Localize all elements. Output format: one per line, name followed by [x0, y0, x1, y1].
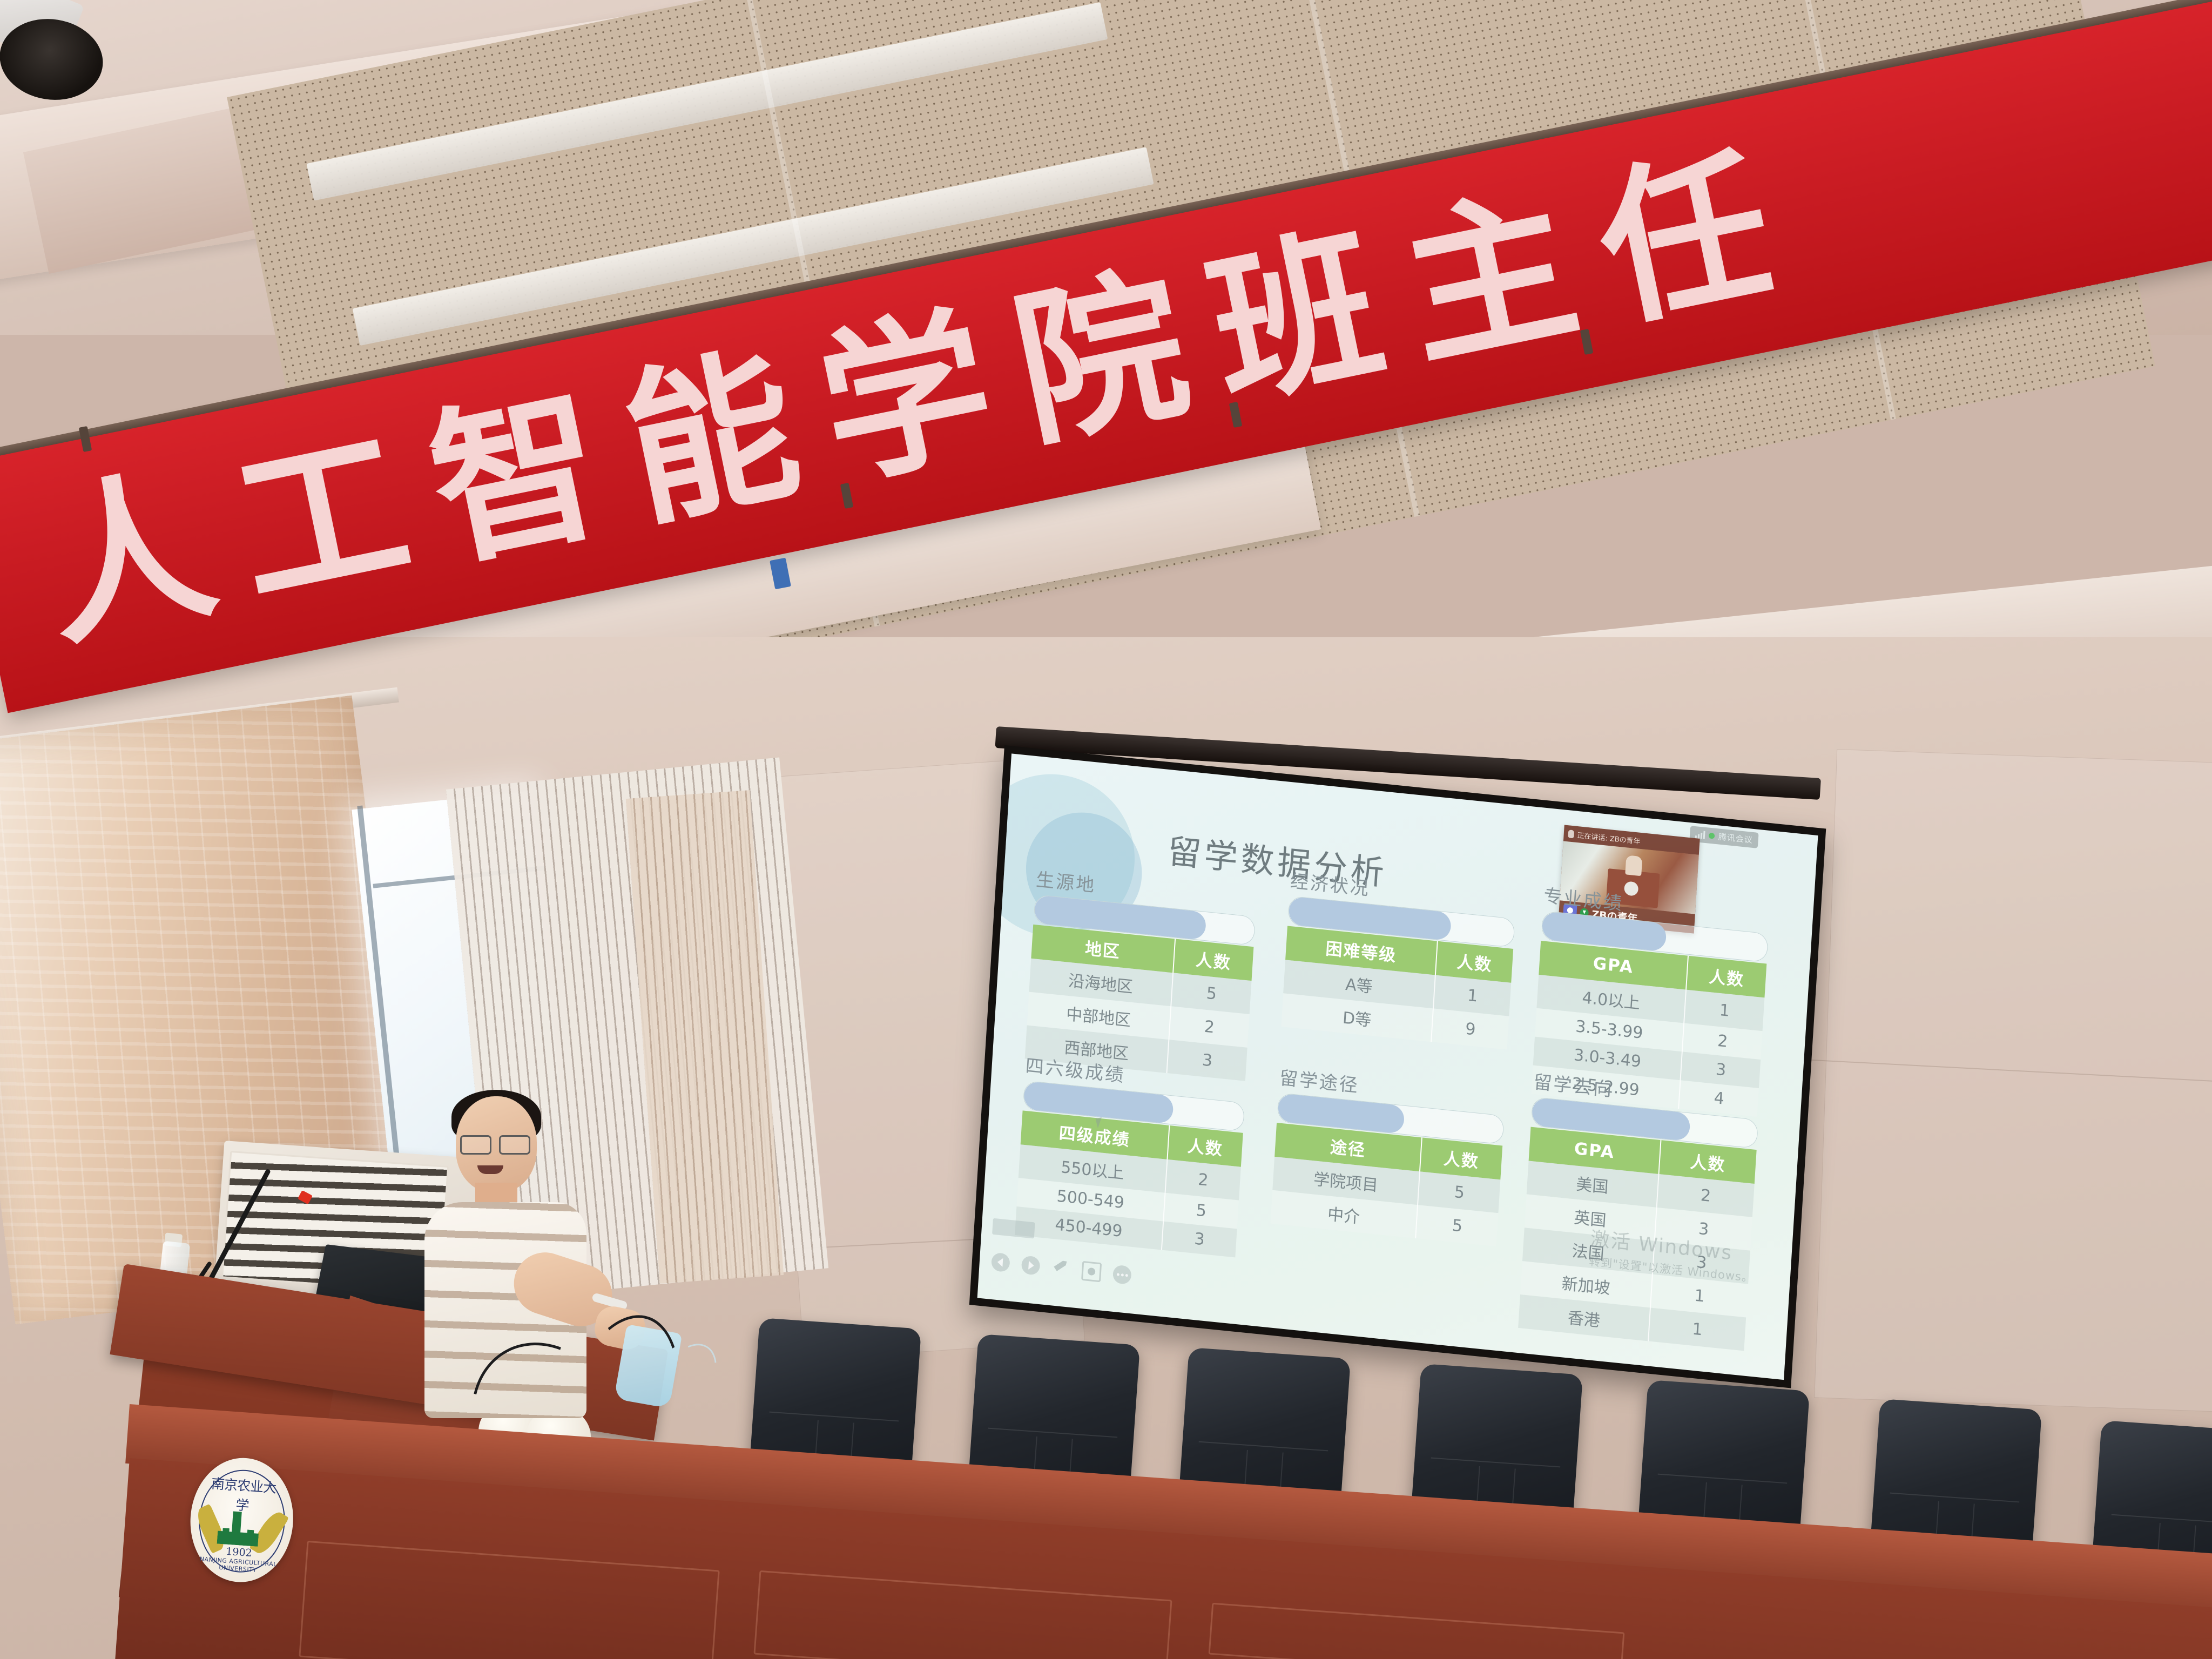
tencent-meeting-label: 腾讯会议 [1718, 831, 1753, 845]
next-slide-icon[interactable] [1021, 1255, 1041, 1275]
data-block-liuxuequxiang: 留学去向 GPA 人数 美国2 英国3 法国3 新加坡1 香港1 [1518, 1067, 1761, 1351]
recording-dot-icon [1709, 833, 1715, 839]
presentation-slide: 留学数据分析 腾讯会议 正在讲话: ZBの青年 [977, 753, 1818, 1380]
projection-screen: 留学数据分析 腾讯会议 正在讲话: ZBの青年 [969, 745, 1826, 1388]
data-block-siliujichengji: 四六级成绩 四级成绩 人数 550以上2 500-5495 450-4993 [1015, 1051, 1247, 1258]
data-block-jingjizhuangkuang: 经济状况 困难等级 人数 A等1 D等9 [1281, 866, 1517, 1050]
pen-icon[interactable] [1051, 1258, 1070, 1278]
microphone-icon [1568, 829, 1574, 838]
stage-spotlight-icon [0, 0, 119, 95]
university-emblem: 南京农业大学 1902 NANJING AGRICULTURAL UNIVERS… [186, 1454, 303, 1596]
data-table: 途径 人数 学院项目5 中介5 [1270, 1123, 1502, 1246]
tencent-meeting-badge: 腾讯会议 [1689, 826, 1758, 848]
pointer-icon[interactable] [1081, 1261, 1102, 1283]
eyeglasses-icon [460, 1135, 530, 1152]
more-options-icon[interactable] [1112, 1265, 1132, 1285]
data-table: 四级成绩 人数 550以上2 500-5495 450-4993 [1015, 1110, 1243, 1257]
lecture-hall-photo: 人工智能学院班主任 留学数据分析 腾讯会议 正在讲话: ZBの青 [0, 0, 2212, 1659]
wall-panel [1814, 749, 2212, 1412]
cell-value: 9 [1431, 1008, 1509, 1049]
data-block-shengyuandi: 生源地 地区 人数 沿海地区5 中部地区2 西部地区3 [1025, 865, 1258, 1081]
prev-slide-icon[interactable] [991, 1252, 1010, 1272]
emblem-chinese-name: 南京农业大学 [205, 1473, 281, 1510]
powerpoint-presenter-toolbar[interactable] [991, 1252, 1132, 1285]
data-block-liuxuetujing: 留学途径 途径 人数 学院项目5 中介5 [1270, 1063, 1506, 1246]
video-person [1625, 855, 1642, 876]
data-table: 困难等级 人数 A等1 D等9 [1281, 926, 1513, 1049]
